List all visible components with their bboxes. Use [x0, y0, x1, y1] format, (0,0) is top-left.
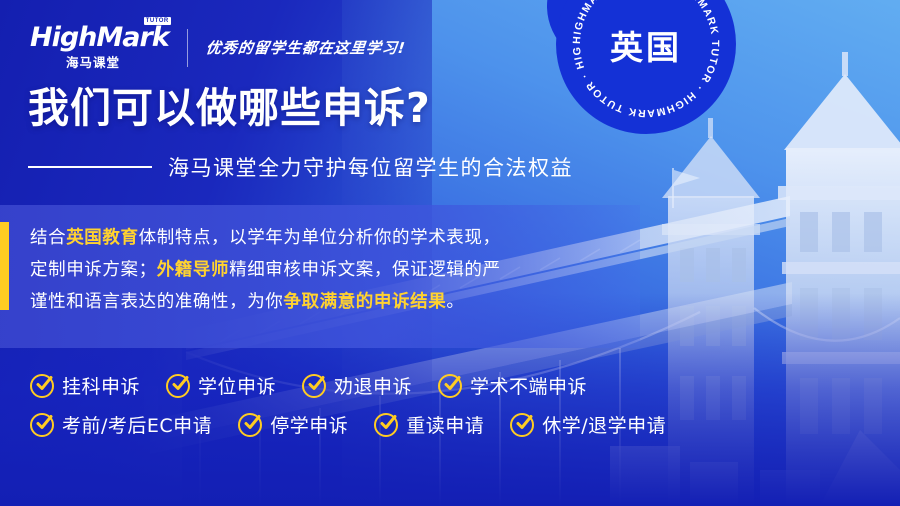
badge-country-label: 英国 — [556, 0, 736, 134]
body-l1-a: 结合 — [30, 228, 66, 248]
body-l3-a: 谨性和语言表达的准确性，为你 — [30, 292, 283, 312]
logo-wordmark: HighMark — [30, 24, 169, 51]
service-tag-row-1: 挂科申诉 学位申诉 劝退申诉 学术不端申诉 — [30, 372, 666, 399]
body-paragraph: 结合英国教育体制特点，以学年为单位分析你的学术表现， 定制申诉方案；外籍导师精细… — [30, 222, 610, 318]
service-tag-label: 休学/退学申请 — [542, 411, 666, 438]
body-l3-highlight: 争取满意的申诉结果 — [283, 292, 446, 312]
service-tag[interactable]: 休学/退学申请 — [510, 411, 666, 438]
logo-row: HighMark TUTOR — [30, 24, 169, 51]
body-l2-highlight: 外籍导师 — [157, 260, 229, 280]
logo-chinese-name: 海马课堂 — [66, 52, 120, 71]
service-tag[interactable]: 学位申诉 — [166, 372, 276, 399]
body-l2-b: 精细审核申诉文案，保证逻辑的严 — [229, 260, 501, 280]
service-tag-label: 劝退申诉 — [334, 372, 412, 399]
body-line-2: 定制申诉方案；外籍导师精细审核申诉文案，保证逻辑的严 — [30, 254, 610, 286]
body-l3-b: 。 — [446, 292, 464, 312]
check-circle-icon — [510, 413, 534, 437]
service-tag[interactable]: 停学申诉 — [238, 411, 348, 438]
body-line-3: 谨性和语言表达的准确性，为你争取满意的申诉结果。 — [30, 286, 610, 318]
service-tags: 挂科申诉 学位申诉 劝退申诉 学术不端申诉 — [30, 372, 666, 450]
subtitle-row: 海马课堂全力守护每位留学生的合法权益 — [28, 152, 573, 182]
header-divider — [187, 29, 188, 67]
service-tag-label: 停学申诉 — [270, 411, 348, 438]
check-circle-icon — [30, 413, 54, 437]
logo[interactable]: HighMark TUTOR 海马课堂 — [30, 24, 169, 71]
bridge-tower-right — [778, 52, 900, 506]
service-tag[interactable]: 学术不端申诉 — [438, 372, 587, 399]
service-tag-label: 考前/考后EC申请 — [62, 411, 212, 438]
service-tag[interactable]: 劝退申诉 — [302, 372, 412, 399]
body-l1-highlight: 英国教育 — [66, 228, 138, 248]
service-tag[interactable]: 挂科申诉 — [30, 372, 140, 399]
body-l1-b: 体制特点，以学年为单位分析你的学术表现， — [139, 228, 501, 248]
promo-banner: HighMark TUTOR 海马课堂 优秀的留学生都在这里学习! HIGHMA… — [0, 0, 900, 506]
brand-tagline: 优秀的留学生都在这里学习! — [205, 37, 407, 58]
body-l2-a: 定制申诉方案； — [30, 260, 157, 280]
check-circle-icon — [166, 374, 190, 398]
service-tag-label: 挂科申诉 — [62, 372, 140, 399]
accent-bar — [0, 222, 9, 310]
subtitle-rule — [28, 166, 152, 168]
service-tag-label: 重读申请 — [406, 411, 484, 438]
check-circle-icon — [238, 413, 262, 437]
logo-tutor-badge: TUTOR — [144, 17, 171, 25]
bridge-tower-mid — [662, 118, 760, 506]
page-subtitle: 海马课堂全力守护每位留学生的合法权益 — [168, 152, 573, 182]
check-circle-icon — [374, 413, 398, 437]
service-tag[interactable]: 重读申请 — [374, 411, 484, 438]
country-badge: HIGHMARK TUTOR · HIGHMARK TUTOR · HIGHMA… — [556, 0, 736, 134]
page-title: 我们可以做哪些申诉? — [28, 88, 431, 129]
check-circle-icon — [302, 374, 326, 398]
body-line-1: 结合英国教育体制特点，以学年为单位分析你的学术表现， — [30, 222, 610, 254]
check-circle-icon — [30, 374, 54, 398]
service-tag-label: 学位申诉 — [198, 372, 276, 399]
header: HighMark TUTOR 海马课堂 优秀的留学生都在这里学习! — [30, 24, 406, 71]
service-tag-row-2: 考前/考后EC申请 停学申诉 重读申请 休学/退学申请 — [30, 411, 666, 438]
check-circle-icon — [438, 374, 462, 398]
service-tag-label: 学术不端申诉 — [470, 372, 587, 399]
service-tag[interactable]: 考前/考后EC申请 — [30, 411, 212, 438]
